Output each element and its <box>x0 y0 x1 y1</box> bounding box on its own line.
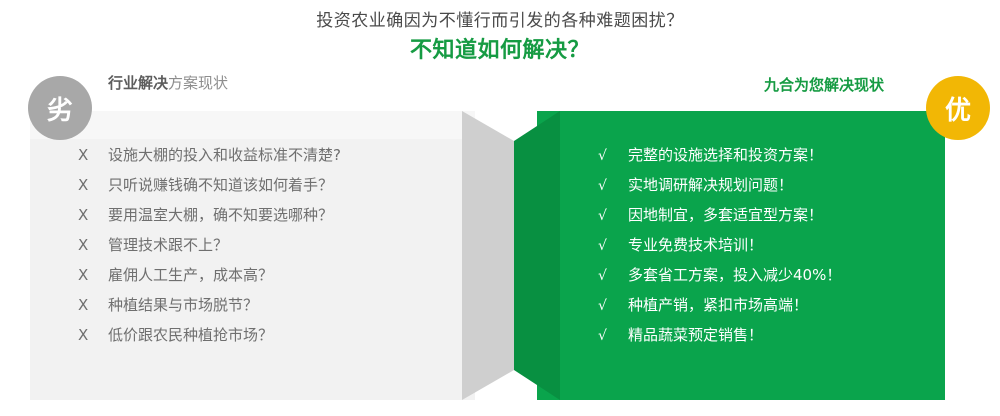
solutions-list: √ 完整的设施选择和投资方案！ √ 实地调研解决规划问题！ √ 因地制宜，多套适… <box>598 140 968 350</box>
list-item: √ 完整的设施选择和投资方案！ <box>598 140 968 170</box>
list-item-label: 要用温室大棚，确不知要选哪种？ <box>108 200 333 230</box>
list-item: X 种植结果与市场脱节？ <box>78 290 458 320</box>
list-item: √ 专业免费技术培训！ <box>598 230 968 260</box>
list-item: √ 种植产销，紧扣市场高端！ <box>598 290 968 320</box>
cross-icon: X <box>78 200 108 230</box>
list-item: √ 精品蔬菜预定销售！ <box>598 320 968 350</box>
panel-sheen <box>30 111 475 139</box>
badge-inferior: 劣 <box>28 76 92 140</box>
list-item-label: 设施大棚的投入和收益标准不清楚? <box>108 140 341 170</box>
problems-subheader-strong: 行业解决 <box>108 74 168 92</box>
list-item: X 要用温室大棚，确不知要选哪种？ <box>78 200 458 230</box>
check-icon: √ <box>598 291 628 321</box>
problems-subheader-soft: 方案现状 <box>168 74 228 92</box>
check-icon: √ <box>598 321 628 351</box>
problems-list: X 设施大棚的投入和收益标准不清楚? X 只听说赚钱确不知道该如何着手？ X 要… <box>78 140 458 350</box>
list-item-label: 种植产销，紧扣市场高端！ <box>628 290 808 320</box>
list-item-label: 完整的设施选择和投资方案！ <box>628 140 823 170</box>
comparison-banner: 投资农业确因为不懂行而引发的各种难题困扰？ 不知道如何解决？ 行业解决方案现状 … <box>0 0 1000 416</box>
headline-question: 投资农业确因为不懂行而引发的各种难题困扰？ <box>0 8 1000 34</box>
ribbon-fold-green-icon <box>500 111 560 400</box>
cross-icon: X <box>78 170 108 200</box>
list-item-label: 精品蔬菜预定销售！ <box>628 320 763 350</box>
check-icon: √ <box>598 141 628 171</box>
problems-subheader: 行业解决方案现状 <box>108 72 228 94</box>
list-item: √ 实地调研解决规划问题！ <box>598 170 968 200</box>
list-item: X 低价跟农民种植抢市场？ <box>78 320 458 350</box>
list-item: X 雇佣人工生产，成本高？ <box>78 260 458 290</box>
cross-icon: X <box>78 230 108 260</box>
check-icon: √ <box>598 261 628 291</box>
list-item-label: 专业免费技术培训！ <box>628 230 763 260</box>
list-item-label: 管理技术跟不上？ <box>108 230 228 260</box>
headline-block: 投资农业确因为不懂行而引发的各种难题困扰？ 不知道如何解决？ <box>0 8 1000 66</box>
list-item: X 管理技术跟不上？ <box>78 230 458 260</box>
list-item: √ 多套省工方案，投入减少40%！ <box>598 260 968 290</box>
headline-emphasis: 不知道如何解决？ <box>0 36 1000 66</box>
cross-icon: X <box>78 140 108 170</box>
list-item-label: 多套省工方案，投入减少40%！ <box>628 260 841 290</box>
badge-superior: 优 <box>926 76 990 140</box>
cross-icon: X <box>78 260 108 290</box>
check-icon: √ <box>598 201 628 231</box>
check-icon: √ <box>598 171 628 201</box>
list-item-label: 因地制宜，多套适宜型方案！ <box>628 200 823 230</box>
list-item-label: 低价跟农民种植抢市场？ <box>108 320 273 350</box>
cross-icon: X <box>78 290 108 320</box>
list-item-label: 雇佣人工生产，成本高？ <box>108 260 273 290</box>
list-item: √ 因地制宜，多套适宜型方案！ <box>598 200 968 230</box>
list-item: X 只听说赚钱确不知道该如何着手？ <box>78 170 458 200</box>
solutions-subheader: 九合为您解决现状 <box>764 74 884 96</box>
check-icon: √ <box>598 231 628 261</box>
list-item: X 设施大棚的投入和收益标准不清楚? <box>78 140 458 170</box>
cross-icon: X <box>78 320 108 350</box>
list-item-label: 种植结果与市场脱节？ <box>108 290 258 320</box>
list-item-label: 只听说赚钱确不知道该如何着手？ <box>108 170 333 200</box>
list-item-label: 实地调研解决规划问题！ <box>628 170 793 200</box>
